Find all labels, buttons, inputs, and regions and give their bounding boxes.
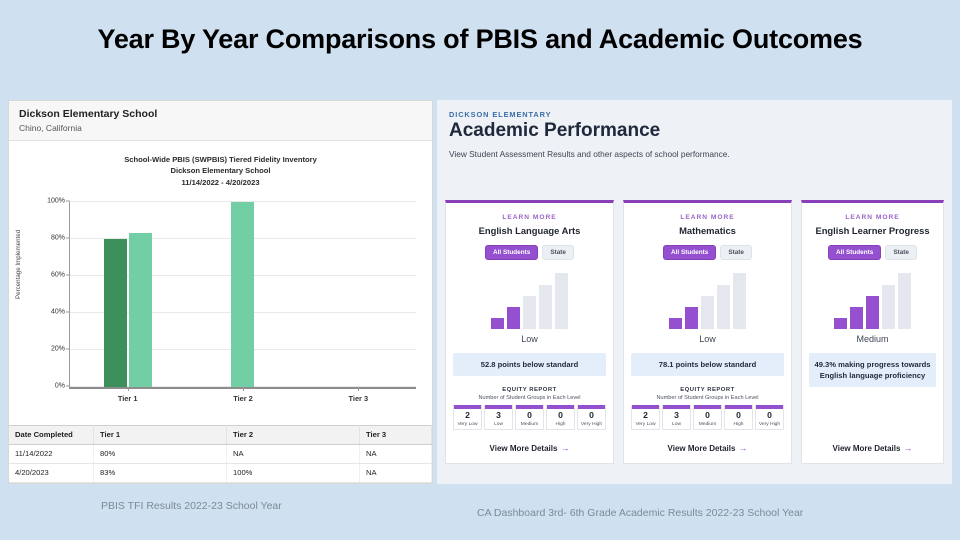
ladder-rung <box>685 307 698 329</box>
equity-level-cell: 0Very High <box>755 405 784 430</box>
equity-level-count: 2 <box>632 411 659 420</box>
card-title: English Language Arts <box>453 225 606 236</box>
view-more-details-label: View More Details <box>668 444 736 453</box>
equity-level-count: 0 <box>578 411 605 420</box>
y-axis-tick: 40% <box>51 308 65 315</box>
toggle-all-students[interactable]: All Students <box>663 245 716 260</box>
equity-level-cell: 0High <box>724 405 753 430</box>
ladder-rung <box>555 273 568 329</box>
equity-level-bar <box>454 405 481 409</box>
equity-report-subtitle: Number of Student Groups in Each Level <box>453 395 606 401</box>
performance-level-ladder <box>631 273 784 329</box>
x-axis-tickmark <box>243 387 244 391</box>
equity-level-bar <box>694 405 721 409</box>
learn-more-label[interactable]: LEARN MORE <box>453 214 606 221</box>
ladder-rung <box>866 296 879 330</box>
equity-level-count: 2 <box>454 411 481 420</box>
x-axis-tickmark <box>128 387 129 391</box>
ladder-rung <box>507 307 520 329</box>
ladder-rung <box>834 318 847 329</box>
status-badge: Low <box>631 334 784 344</box>
table-cell: 11/14/2022 <box>9 445 94 464</box>
y-axis-tick: 0% <box>55 382 65 389</box>
ladder-rung <box>701 296 714 330</box>
table-column-header: Tier 1 <box>94 426 227 445</box>
equity-level-bar <box>663 405 690 409</box>
table-cell: NA <box>227 445 360 464</box>
table-row: 11/14/202280%NANA <box>9 445 432 464</box>
equity-report-subtitle: Number of Student Groups in Each Level <box>631 395 784 401</box>
equity-level-bar <box>578 405 605 409</box>
y-axis-tick: 60% <box>51 271 65 278</box>
learn-more-label[interactable]: LEARN MORE <box>809 214 936 221</box>
table-cell: 80% <box>94 445 227 464</box>
performance-level-ladder <box>809 273 936 329</box>
pbis-tfi-panel: Dickson Elementary School Chino, Califor… <box>8 100 433 484</box>
dashboard-title: Academic Performance <box>449 121 940 142</box>
equity-level-bar <box>725 405 752 409</box>
chart-bar-group: Tier 2 <box>185 202 300 387</box>
equity-level-label: Medium <box>694 422 721 427</box>
toggle-state[interactable]: State <box>542 245 574 260</box>
view-more-details-label: View More Details <box>490 444 558 453</box>
ladder-rung <box>523 296 536 330</box>
equity-level-count: 3 <box>485 411 512 420</box>
y-axis-tick: 20% <box>51 345 65 352</box>
right-panel-header: DICKSON ELEMENTARY Academic Performance … <box>437 100 952 161</box>
equity-level-label: High <box>547 422 574 427</box>
student-group-toggle: All StudentsState <box>453 245 606 260</box>
toggle-all-students[interactable]: All Students <box>828 245 881 260</box>
equity-level-cell: 0Medium <box>693 405 722 430</box>
table-cell: 100% <box>227 464 360 483</box>
toggle-state[interactable]: State <box>885 245 917 260</box>
equity-level-cell: 2Very Low <box>453 405 482 430</box>
page-title: Year By Year Comparisons of PBIS and Aca… <box>60 22 900 57</box>
x-axis-tick: Tier 1 <box>70 394 185 403</box>
ladder-rung <box>898 273 911 329</box>
equity-level-row: 2Very Low3Low0Medium0High0Very High <box>631 405 784 430</box>
toggle-state[interactable]: State <box>720 245 752 260</box>
chart-bar-group: Tier 3 <box>301 202 416 387</box>
chart-title: School-Wide PBIS (SWPBIS) Tiered Fidelit… <box>9 154 432 188</box>
equity-level-count: 0 <box>694 411 721 420</box>
equity-level-label: Low <box>663 422 690 427</box>
equity-level-label: Low <box>485 422 512 427</box>
performance-card[interactable]: LEARN MOREEnglish Language ArtsAll Stude… <box>445 200 614 464</box>
academic-performance-panel: DICKSON ELEMENTARY Academic Performance … <box>437 100 952 484</box>
chart-bar-group: Tier 1 <box>70 202 185 387</box>
arrow-right-icon: → <box>903 443 912 453</box>
chart-bar <box>129 233 152 387</box>
equity-level-bar <box>756 405 783 409</box>
equity-level-label: Very High <box>578 422 605 427</box>
chart-bar <box>104 239 127 387</box>
learn-more-label[interactable]: LEARN MORE <box>631 214 784 221</box>
equity-level-bar <box>547 405 574 409</box>
view-more-details-link[interactable]: View More Details→ <box>809 431 936 453</box>
performance-card-list: LEARN MOREEnglish Language ArtsAll Stude… <box>445 200 944 464</box>
equity-level-count: 0 <box>516 411 543 420</box>
table-column-header: Tier 2 <box>227 426 360 445</box>
table-cell: NA <box>360 464 432 483</box>
equity-level-bar <box>516 405 543 409</box>
equity-report: EQUITY REPORTNumber of Student Groups in… <box>453 387 606 430</box>
table-cell: NA <box>360 445 432 464</box>
equity-level-label: Very High <box>756 422 783 427</box>
performance-card[interactable]: LEARN MOREMathematicsAll StudentsStateLo… <box>623 200 792 464</box>
equity-level-cell: 2Very Low <box>631 405 660 430</box>
school-location: Chino, California <box>19 123 422 134</box>
equity-level-label: Very Low <box>454 422 481 427</box>
card-title: English Learner Progress <box>809 225 936 236</box>
chart-bar <box>231 202 254 387</box>
x-axis-tick: Tier 2 <box>185 394 300 403</box>
equity-level-count: 0 <box>725 411 752 420</box>
equity-level-cell: 0Very High <box>577 405 606 430</box>
chart-title-line-2: Dickson Elementary School <box>9 165 432 176</box>
tfi-bar-chart: Percentage Implemented 0%20%40%60%80%100… <box>9 194 432 424</box>
dashboard-eyebrow: DICKSON ELEMENTARY <box>449 110 940 119</box>
view-more-details-label: View More Details <box>833 444 901 453</box>
equity-level-count: 0 <box>547 411 574 420</box>
chart-title-line-1: School-Wide PBIS (SWPBIS) Tiered Fidelit… <box>9 154 432 165</box>
equity-level-cell: 0Medium <box>515 405 544 430</box>
equity-level-bar <box>632 405 659 409</box>
chart-title-line-3: 11/14/2022 - 4/20/2023 <box>9 177 432 188</box>
equity-level-cell: 0High <box>546 405 575 430</box>
performance-level-ladder <box>453 273 606 329</box>
ladder-rung <box>733 273 746 329</box>
equity-level-cell: 3Low <box>484 405 513 430</box>
chart-plot-area: 0%20%40%60%80%100%Tier 1Tier 2Tier 3 <box>69 202 416 389</box>
table-cell: 83% <box>94 464 227 483</box>
table-cell: 4/20/2023 <box>9 464 94 483</box>
equity-level-cell: 3Low <box>662 405 691 430</box>
caption-pbis: PBIS TFI Results 2022-23 School Year <box>101 500 282 512</box>
equity-report-title: EQUITY REPORT <box>453 387 606 393</box>
performance-callout: 78.1 points below standard <box>631 353 784 376</box>
equity-level-label: Very Low <box>632 422 659 427</box>
performance-card[interactable]: LEARN MOREEnglish Learner ProgressAll St… <box>801 200 944 464</box>
caption-dashboard: CA Dashboard 3rd- 6th Grade Academic Res… <box>477 507 803 519</box>
school-name: Dickson Elementary School <box>19 108 422 121</box>
performance-callout: 49.3% making progress towards English la… <box>809 353 936 387</box>
equity-report: EQUITY REPORTNumber of Student Groups in… <box>631 387 784 430</box>
toggle-all-students[interactable]: All Students <box>485 245 538 260</box>
table-body: 11/14/202280%NANA4/20/202383%100%NA <box>9 445 432 483</box>
equity-level-count: 3 <box>663 411 690 420</box>
equity-level-row: 2Very Low3Low0Medium0High0Very High <box>453 405 606 430</box>
y-axis-label: Percentage Implemented <box>15 230 22 299</box>
equity-level-label: Medium <box>516 422 543 427</box>
ladder-rung <box>491 318 504 329</box>
arrow-right-icon: → <box>560 443 569 453</box>
table-column-header: Date Completed <box>9 426 94 445</box>
equity-level-label: High <box>725 422 752 427</box>
card-title: Mathematics <box>631 225 784 236</box>
performance-callout: 52.8 points below standard <box>453 353 606 376</box>
student-group-toggle: All StudentsState <box>809 245 936 260</box>
equity-report-title: EQUITY REPORT <box>631 387 784 393</box>
y-axis-tick: 80% <box>51 234 65 241</box>
x-axis-tick: Tier 3 <box>301 394 416 403</box>
dashboard-subtitle: View Student Assessment Results and othe… <box>449 148 779 161</box>
x-axis-tickmark <box>358 387 359 391</box>
ladder-rung <box>882 285 895 330</box>
ladder-rung <box>669 318 682 329</box>
equity-level-bar <box>485 405 512 409</box>
view-more-details-link[interactable]: View More Details→ <box>631 431 784 453</box>
left-panel-header: Dickson Elementary School Chino, Califor… <box>9 101 432 141</box>
y-axis-tick: 100% <box>47 197 65 204</box>
ladder-rung <box>539 285 552 330</box>
arrow-right-icon: → <box>738 443 747 453</box>
table-header-row: Date CompletedTier 1Tier 2Tier 3 <box>9 426 432 445</box>
tfi-results-table: Date CompletedTier 1Tier 2Tier 3 11/14/2… <box>9 425 432 483</box>
status-badge: Low <box>453 334 606 344</box>
ladder-rung <box>717 285 730 330</box>
student-group-toggle: All StudentsState <box>631 245 784 260</box>
equity-level-count: 0 <box>756 411 783 420</box>
status-badge: Medium <box>809 334 936 344</box>
ladder-rung <box>850 307 863 329</box>
table-column-header: Tier 3 <box>360 426 432 445</box>
view-more-details-link[interactable]: View More Details→ <box>453 431 606 453</box>
table-row: 4/20/202383%100%NA <box>9 464 432 483</box>
